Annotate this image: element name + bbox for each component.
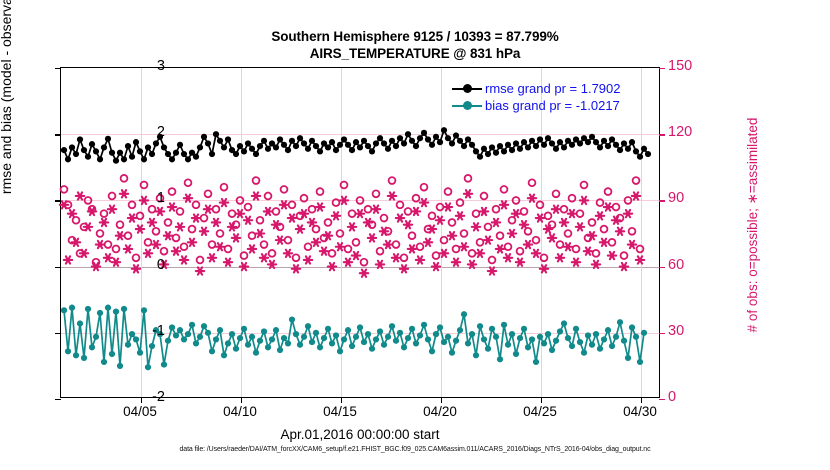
rmse-point	[61, 147, 67, 153]
bias-point	[509, 331, 515, 337]
bias-point	[557, 328, 563, 334]
bias-point	[577, 339, 583, 345]
bias-point	[145, 364, 151, 370]
rmse-point	[137, 148, 143, 154]
obs-possible-marker	[521, 208, 528, 215]
obs-possible-marker	[469, 250, 476, 257]
x-axis-title: Apr.01,2016 00:00:00 start	[0, 427, 720, 442]
obs-possible-marker	[513, 197, 520, 204]
bias-point	[525, 344, 531, 350]
bias-point	[285, 340, 291, 346]
rmse-point	[417, 135, 423, 141]
bias-point	[633, 334, 639, 340]
rmse-point	[73, 151, 79, 157]
bias-point	[469, 331, 475, 337]
obs-assimilated-marker	[604, 203, 612, 210]
bias-point	[137, 350, 143, 356]
obs-assimilated-marker	[288, 214, 296, 221]
rmse-point	[401, 140, 407, 146]
bias-point	[273, 327, 279, 333]
bias-point	[313, 330, 319, 336]
bias-point	[457, 327, 463, 333]
obs-assimilated-marker	[156, 208, 164, 215]
bias-point	[493, 334, 499, 340]
bias-point	[461, 311, 467, 317]
bias-point	[201, 323, 207, 329]
obs-possible-marker	[433, 252, 440, 259]
bias-point	[189, 322, 195, 328]
obs-assimilated-marker	[584, 248, 592, 255]
bias-point	[193, 340, 199, 346]
obs-possible-marker	[429, 212, 436, 219]
bias-point	[617, 319, 623, 325]
bias-point	[629, 324, 635, 330]
rmse-point	[329, 139, 335, 145]
obs-assimilated-marker	[360, 270, 368, 277]
tick-mark	[641, 397, 642, 403]
rmse-point	[617, 147, 623, 153]
obs-possible-marker	[477, 239, 484, 246]
obs-possible-marker	[317, 188, 324, 195]
bias-point	[345, 327, 351, 333]
obs-possible-marker	[613, 204, 620, 211]
obs-assimilated-marker	[620, 263, 628, 270]
bias-point	[121, 306, 127, 312]
obs-assimilated-marker	[572, 259, 580, 266]
obs-assimilated-marker	[412, 208, 420, 215]
obs-assimilated-marker	[564, 243, 572, 250]
obs-possible-marker	[257, 217, 264, 224]
bias-point	[245, 342, 251, 348]
obs-possible-marker	[609, 239, 616, 246]
obs-assimilated-marker	[260, 254, 268, 261]
obs-assimilated-marker	[268, 261, 276, 268]
rmse-point	[93, 148, 99, 154]
obs-possible-marker	[85, 197, 92, 204]
obs-assimilated-marker	[524, 241, 532, 248]
obs-assimilated-marker	[236, 210, 244, 217]
obs-possible-marker	[397, 201, 404, 208]
rmse-point	[77, 136, 83, 142]
bias-point	[425, 336, 431, 342]
bias-point	[105, 305, 111, 311]
tick-mark	[55, 399, 61, 400]
obs-possible-marker	[357, 197, 364, 204]
obs-possible-marker	[561, 206, 568, 213]
right-tick-label: 150	[668, 58, 728, 74]
bias-point	[477, 323, 483, 329]
rmse-point	[397, 135, 403, 141]
obs-assimilated-marker	[192, 214, 200, 221]
rmse-point	[169, 156, 175, 162]
bias-point	[149, 343, 155, 349]
obs-possible-marker	[249, 232, 256, 239]
rmse-point	[201, 134, 207, 140]
bias-point	[357, 324, 363, 330]
obs-possible-marker	[461, 230, 468, 237]
rmse-point	[325, 144, 331, 150]
bias-point	[101, 359, 107, 365]
bias-point	[349, 343, 355, 349]
obs-assimilated-marker	[128, 214, 136, 221]
obs-possible-marker	[501, 186, 508, 193]
bias-point	[373, 336, 379, 342]
bias-point	[197, 334, 203, 340]
obs-possible-marker	[489, 257, 496, 264]
rmse-point	[293, 143, 299, 149]
legend-marker-icon	[452, 99, 482, 113]
rmse-point	[117, 150, 123, 156]
rmse-point	[601, 138, 607, 144]
rmse-point	[89, 141, 95, 147]
rmse-point	[357, 144, 363, 150]
bias-point	[225, 340, 231, 346]
rmse-point	[533, 143, 539, 149]
tick-mark	[241, 397, 242, 403]
bias-point	[73, 352, 79, 358]
obs-possible-marker	[597, 199, 604, 206]
bias-point	[321, 335, 327, 341]
obs-possible-marker	[209, 241, 216, 248]
obs-possible-marker	[409, 232, 416, 239]
rmse-point	[465, 136, 471, 142]
bias-point	[585, 332, 591, 338]
rmse-point	[453, 132, 459, 138]
rmse-point	[121, 156, 127, 162]
obs-possible-marker	[149, 206, 156, 213]
obs-possible-marker	[293, 254, 300, 261]
obs-assimilated-marker	[464, 190, 472, 197]
obs-possible-marker	[557, 241, 564, 248]
bias-point	[401, 344, 407, 350]
rmse-point	[241, 148, 247, 154]
obs-possible-marker	[553, 190, 560, 197]
bias-point	[213, 336, 219, 342]
obs-assimilated-marker	[212, 219, 220, 226]
obs-assimilated-marker	[208, 254, 216, 261]
obs-possible-marker	[625, 197, 632, 204]
tick-mark	[55, 267, 61, 268]
obs-possible-marker	[593, 250, 600, 257]
rmse-point	[125, 143, 131, 149]
obs-assimilated-marker	[472, 223, 480, 230]
rmse-point	[217, 138, 223, 144]
obs-assimilated-marker	[468, 261, 476, 268]
obs-possible-marker	[221, 184, 228, 191]
bias-point	[293, 331, 299, 337]
obs-possible-marker	[537, 201, 544, 208]
obs-possible-marker	[113, 246, 120, 253]
obs-assimilated-marker	[480, 208, 488, 215]
bias-point	[541, 340, 547, 346]
obs-possible-marker	[265, 193, 272, 200]
rmse-point	[85, 154, 91, 160]
obs-assimilated-marker	[64, 256, 72, 263]
obs-assimilated-marker	[416, 256, 424, 263]
rmse-point	[65, 156, 71, 162]
obs-possible-marker	[153, 228, 160, 235]
obs-possible-marker	[413, 195, 420, 202]
rmse-point	[577, 140, 583, 146]
bias-point	[289, 316, 295, 322]
obs-assimilated-marker	[336, 243, 344, 250]
tick-mark	[441, 397, 442, 403]
rmse-point	[161, 144, 167, 150]
obs-assimilated-marker	[408, 245, 416, 252]
x-tick-label: 04/15	[300, 404, 380, 419]
bias-point	[297, 342, 303, 348]
bias-point	[449, 350, 455, 356]
obs-assimilated-marker	[176, 223, 184, 230]
bias-point	[369, 346, 375, 352]
bias-point	[413, 340, 419, 346]
bias-point	[381, 342, 387, 348]
bias-point	[513, 351, 519, 357]
rmse-point	[505, 142, 511, 148]
obs-possible-marker	[577, 210, 584, 217]
obs-assimilated-marker	[188, 239, 196, 246]
obs-assimilated-marker	[592, 261, 600, 268]
obs-assimilated-marker	[560, 219, 568, 226]
obs-assimilated-marker	[492, 219, 500, 226]
obs-possible-marker	[569, 195, 576, 202]
obs-assimilated-marker	[608, 252, 616, 259]
obs-assimilated-marker	[244, 217, 252, 224]
obs-assimilated-marker	[556, 254, 564, 261]
obs-assimilated-marker	[240, 263, 248, 270]
bias-point	[377, 328, 383, 334]
obs-assimilated-marker	[168, 203, 176, 210]
rmse-point	[485, 151, 491, 157]
obs-assimilated-marker	[508, 230, 516, 237]
obs-possible-marker	[117, 221, 124, 228]
obs-possible-marker	[637, 246, 644, 253]
bias-point	[229, 331, 235, 337]
bias-point	[441, 339, 447, 345]
rmse-point	[489, 144, 495, 150]
right-tick-label: 30	[668, 323, 728, 339]
rmse-point	[625, 146, 631, 152]
rmse-point	[477, 154, 483, 160]
obs-assimilated-marker	[116, 232, 124, 239]
rmse-point	[165, 151, 171, 157]
obs-possible-marker	[301, 195, 308, 202]
obs-possible-marker	[173, 235, 180, 242]
rmse-point	[349, 147, 355, 153]
rmse-point	[641, 146, 647, 152]
obs-possible-marker	[217, 230, 224, 237]
rmse-point	[537, 136, 543, 142]
bias-point	[173, 332, 179, 338]
obs-possible-marker	[493, 206, 500, 213]
rmse-point	[645, 151, 651, 157]
bias-point	[481, 336, 487, 342]
rmse-point	[145, 144, 151, 150]
bias-point	[109, 351, 115, 357]
rmse-point	[381, 140, 387, 146]
rmse-point	[181, 151, 187, 157]
obs-possible-marker	[337, 230, 344, 237]
bias-point	[409, 326, 415, 332]
bias-point	[625, 355, 631, 361]
bias-point	[545, 331, 551, 337]
rmse-point	[233, 151, 239, 157]
obs-assimilated-marker	[460, 243, 468, 250]
bias-point	[433, 331, 439, 337]
obs-assimilated-marker	[252, 192, 260, 199]
obs-assimilated-marker	[448, 232, 456, 239]
obs-possible-marker	[205, 190, 212, 197]
rmse-point	[429, 142, 435, 148]
rmse-point	[553, 146, 559, 152]
rmse-point	[213, 131, 219, 137]
obs-possible-marker	[449, 219, 456, 226]
obs-possible-marker	[177, 208, 184, 215]
right-tick-label: 120	[668, 124, 728, 140]
obs-possible-marker	[365, 206, 372, 213]
obs-assimilated-marker	[232, 234, 240, 241]
left-tick-label: -2	[105, 389, 165, 405]
bias-point	[445, 334, 451, 340]
rmse-point	[141, 156, 147, 162]
obs-possible-marker	[193, 201, 200, 208]
obs-assimilated-marker	[548, 234, 556, 241]
obs-possible-marker	[465, 175, 472, 182]
bias-point	[597, 346, 603, 352]
obs-assimilated-marker	[392, 254, 400, 261]
obs-assimilated-marker	[536, 214, 544, 221]
rmse-point	[69, 144, 75, 150]
obs-assimilated-marker	[628, 241, 636, 248]
rmse-point	[621, 140, 627, 146]
obs-possible-marker	[529, 179, 536, 186]
rmse-point	[193, 154, 199, 160]
obs-possible-marker	[417, 243, 424, 250]
obs-possible-marker	[633, 177, 640, 184]
obs-possible-marker	[573, 246, 580, 253]
obs-possible-marker	[169, 188, 176, 195]
rmse-point	[101, 144, 107, 150]
obs-possible-marker	[505, 243, 512, 250]
obs-assimilated-marker	[204, 206, 212, 213]
obs-possible-marker	[481, 193, 488, 200]
rmse-point	[473, 148, 479, 154]
obs-assimilated-marker	[320, 248, 328, 255]
obs-assimilated-marker	[180, 256, 188, 263]
obs-assimilated-marker	[540, 265, 548, 272]
obs-assimilated-marker	[436, 217, 444, 224]
rmse-point	[353, 139, 359, 145]
bias-point	[569, 343, 575, 349]
obs-possible-marker	[201, 215, 208, 222]
obs-possible-marker	[401, 254, 408, 261]
bias-point	[437, 324, 443, 330]
left-tick-label: 3	[105, 58, 165, 74]
obs-assimilated-marker	[396, 214, 404, 221]
x-tick-label: 04/25	[500, 404, 580, 419]
obs-assimilated-marker	[372, 206, 380, 213]
chart-figure: Southern Hemisphere 9125 / 10393 = 87.79…	[0, 0, 830, 470]
rmse-point	[249, 146, 255, 152]
obs-assimilated-marker	[316, 203, 324, 210]
rmse-point	[281, 142, 287, 148]
rmse-point	[225, 136, 231, 142]
bias-point	[549, 347, 555, 353]
right-tick-label: 90	[668, 190, 728, 206]
obs-possible-marker	[581, 182, 588, 189]
obs-possible-marker	[185, 179, 192, 186]
bias-point	[209, 348, 215, 354]
rmse-point	[333, 147, 339, 153]
obs-assimilated-marker	[632, 192, 640, 199]
bias-point	[565, 335, 571, 341]
obs-possible-marker	[541, 254, 548, 261]
bias-point	[417, 332, 423, 338]
obs-assimilated-marker	[528, 195, 536, 202]
bias-point	[205, 330, 211, 336]
obs-assimilated-marker	[504, 254, 512, 261]
obs-assimilated-marker	[516, 259, 524, 266]
x-tick-label: 04/05	[100, 404, 180, 419]
bias-point	[605, 327, 611, 333]
obs-assimilated-marker	[352, 252, 360, 259]
rmse-point	[237, 143, 243, 149]
obs-assimilated-marker	[284, 250, 292, 257]
obs-possible-marker	[601, 226, 608, 233]
bias-point	[621, 338, 627, 344]
obs-possible-marker	[61, 186, 68, 193]
obs-assimilated-marker	[544, 225, 552, 232]
obs-assimilated-marker	[576, 223, 584, 230]
bias-point	[141, 307, 147, 313]
obs-possible-marker	[237, 197, 244, 204]
bias-point	[385, 334, 391, 340]
datafile-caption: data file: /Users/raeder/DAI/ATM_forcXX/…	[0, 446, 830, 453]
bias-point	[561, 320, 567, 326]
bias-point	[261, 328, 267, 334]
obs-assimilated-marker	[552, 206, 560, 213]
rmse-point	[153, 140, 159, 146]
bias-point	[613, 334, 619, 340]
right-tick-label: 0	[668, 389, 728, 405]
obs-possible-marker	[393, 241, 400, 248]
obs-assimilated-marker	[432, 263, 440, 270]
obs-assimilated-marker	[312, 239, 320, 246]
rmse-point	[629, 139, 635, 145]
rmse-point	[81, 147, 87, 153]
bias-point	[265, 344, 271, 350]
rmse-point	[277, 136, 283, 142]
bias-point	[533, 359, 539, 365]
x-tick-label: 04/30	[600, 404, 680, 419]
bias-point	[185, 331, 191, 337]
obs-possible-marker	[305, 243, 312, 250]
obs-assimilated-marker	[476, 250, 484, 257]
bias-point	[365, 331, 371, 337]
rmse-point	[509, 147, 515, 153]
obs-assimilated-marker	[356, 210, 364, 217]
obs-possible-marker	[341, 182, 348, 189]
tick-mark	[659, 134, 665, 135]
obs-possible-marker	[437, 204, 444, 211]
bias-point	[217, 327, 223, 333]
rmse-point	[561, 144, 567, 150]
obs-assimilated-marker	[196, 267, 204, 274]
bias-point	[181, 336, 187, 342]
bias-point	[177, 327, 183, 333]
bias-point	[325, 326, 331, 332]
bias-point	[397, 330, 403, 336]
